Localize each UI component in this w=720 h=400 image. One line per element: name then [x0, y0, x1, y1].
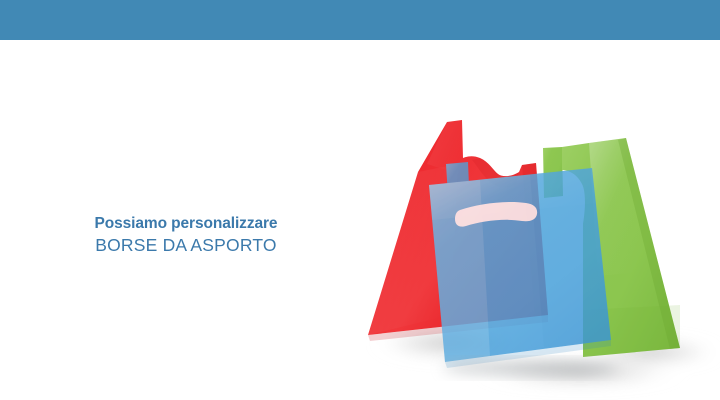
slide-canvas: Possiamo personalizzare BORSE DA ASPORTO — [0, 0, 720, 400]
caption-block: Possiamo personalizzare BORSE DA ASPORTO — [0, 215, 372, 256]
top-bar — [0, 0, 720, 40]
content-area: Possiamo personalizzare BORSE DA ASPORTO — [0, 40, 720, 400]
shopping-bags-illustration — [330, 100, 720, 400]
caption-line-primary: Possiamo personalizzare — [0, 215, 372, 233]
blue-bag — [429, 162, 611, 368]
caption-line-secondary: BORSE DA ASPORTO — [0, 235, 372, 256]
contact-shadow — [442, 361, 618, 375]
